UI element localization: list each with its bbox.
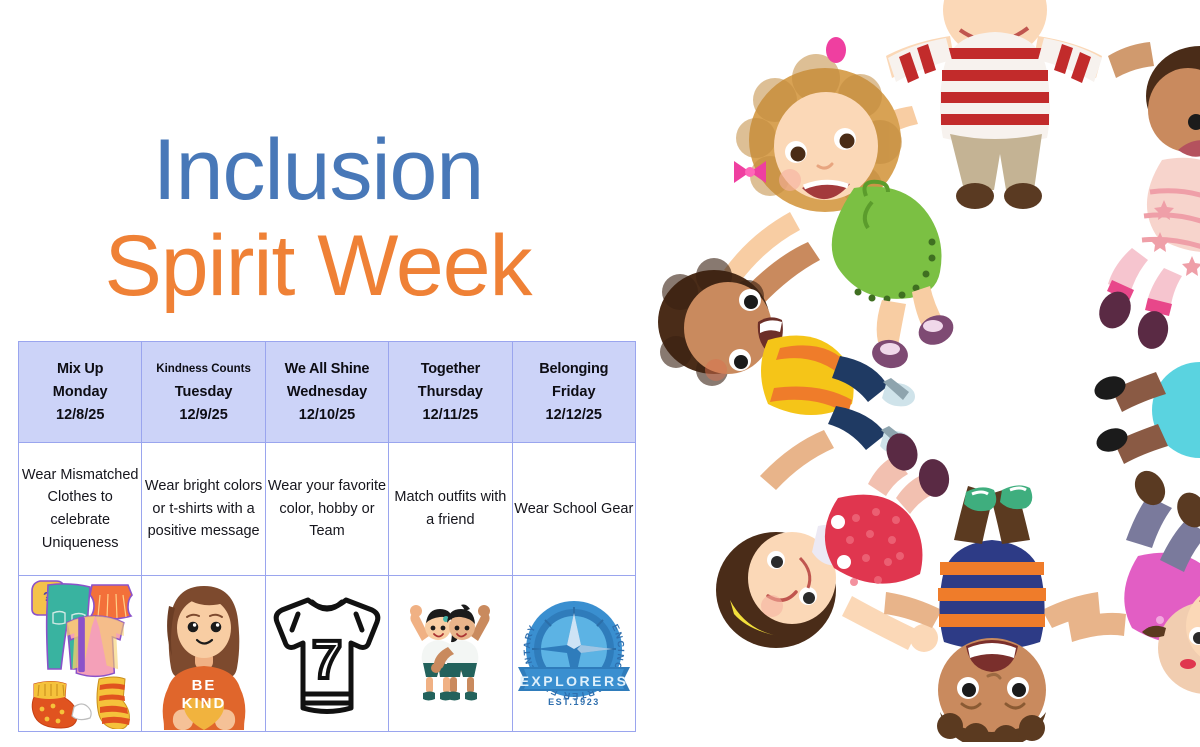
theme-label: We All Shine bbox=[269, 358, 385, 381]
be-kind-girl-icon: BE KIND bbox=[142, 576, 264, 731]
day-header-wednesday: We All Shine Wednesday 12/10/25 bbox=[265, 342, 388, 443]
date-label: 12/8/25 bbox=[22, 404, 138, 427]
school-logo-icon: ENCINO CHARTER ELEMENTARY EXPLORERS EST.… bbox=[513, 576, 635, 731]
image-cell-wednesday: 7 bbox=[265, 576, 388, 732]
sweater-text-line2: KIND bbox=[181, 695, 226, 712]
sweater-text-line1: BE bbox=[191, 677, 216, 694]
child-blue-orange-stripes bbox=[884, 485, 1100, 742]
description-text: Wear bright colors or t-shirts with a po… bbox=[145, 478, 262, 539]
table-description-row: Wear Mismatched Clothes to celebrate Uni… bbox=[19, 443, 636, 576]
theme-label: Belonging bbox=[516, 358, 632, 381]
description-cell-wednesday: Wear your favorite color, hobby or Team bbox=[265, 443, 388, 576]
day-header-tuesday: Kindness Counts Tuesday 12/9/25 bbox=[142, 342, 265, 443]
day-label: Monday bbox=[22, 381, 138, 404]
theme-label: Together bbox=[392, 358, 508, 381]
description-text: Wear Mismatched Clothes to celebrate Uni… bbox=[22, 467, 139, 551]
jersey-icon: 7 bbox=[266, 576, 388, 731]
matching-kids-icon bbox=[389, 576, 511, 731]
child-cyan-shirt bbox=[1091, 362, 1200, 464]
description-cell-thursday: Match outfits with a friend bbox=[389, 443, 512, 576]
page-title: Inclusion Spirit Week bbox=[0, 122, 636, 314]
logo-banner-text: EXPLORERS bbox=[519, 673, 628, 689]
date-label: 12/11/25 bbox=[392, 404, 508, 427]
image-cell-thursday bbox=[389, 576, 512, 732]
description-text: Wear School Gear bbox=[514, 501, 633, 517]
day-header-monday: Mix Up Monday 12/8/25 bbox=[19, 342, 142, 443]
image-cell-friday: ENCINO CHARTER ELEMENTARY EXPLORERS EST.… bbox=[512, 576, 635, 732]
description-cell-tuesday: Wear bright colors or t-shirts with a po… bbox=[142, 443, 265, 576]
date-label: 12/9/25 bbox=[145, 404, 261, 427]
jersey-number: 7 bbox=[312, 630, 342, 690]
theme-label: Kindness Counts bbox=[145, 358, 261, 381]
children-holding-hands-illustration bbox=[640, 0, 1200, 742]
table-image-row: ? bbox=[19, 576, 636, 732]
mismatched-clothes-icon: ? bbox=[19, 576, 141, 731]
title-line-inclusion: Inclusion bbox=[0, 122, 636, 218]
day-label: Friday bbox=[516, 381, 632, 404]
day-label: Tuesday bbox=[145, 381, 261, 404]
child-pink-dress bbox=[1093, 42, 1200, 351]
image-cell-monday: ? bbox=[19, 576, 142, 732]
table-header-row: Mix Up Monday 12/8/25 Kindness Counts Tu… bbox=[19, 342, 636, 443]
day-header-thursday: Together Thursday 12/11/25 bbox=[389, 342, 512, 443]
image-cell-tuesday: BE KIND bbox=[142, 576, 265, 732]
description-cell-monday: Wear Mismatched Clothes to celebrate Uni… bbox=[19, 443, 142, 576]
description-cell-friday: Wear School Gear bbox=[512, 443, 635, 576]
logo-established-text: EST.1923 bbox=[548, 697, 600, 707]
theme-label: Mix Up bbox=[22, 358, 138, 381]
date-label: 12/12/25 bbox=[516, 404, 632, 427]
title-line-spirit-week: Spirit Week bbox=[0, 218, 636, 314]
spirit-week-table: Mix Up Monday 12/8/25 Kindness Counts Tu… bbox=[18, 341, 636, 732]
poster-canvas: Inclusion Spirit Week Mix Up Monday 12/8… bbox=[0, 0, 1200, 742]
child-red-stripes bbox=[886, 0, 1102, 209]
day-label: Thursday bbox=[392, 381, 508, 404]
day-header-friday: Belonging Friday 12/12/25 bbox=[512, 342, 635, 443]
child-magenta-shirt bbox=[1068, 465, 1200, 694]
date-label: 12/10/25 bbox=[269, 404, 385, 427]
day-label: Wednesday bbox=[269, 381, 385, 404]
description-text: Wear your favorite color, hobby or Team bbox=[268, 478, 386, 539]
description-text: Match outfits with a friend bbox=[394, 489, 506, 528]
